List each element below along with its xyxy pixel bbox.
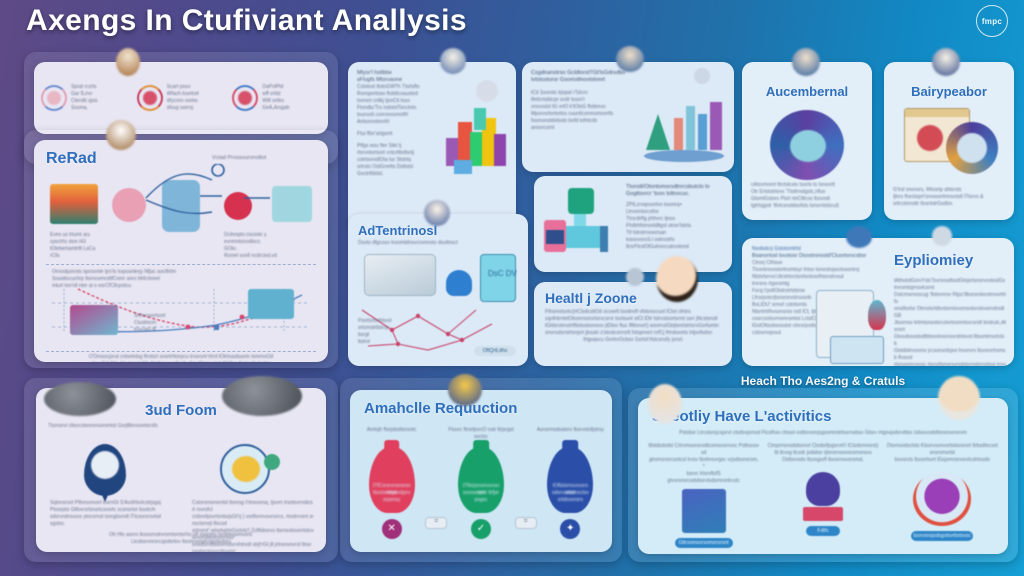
cloud-card-title: Ivtstostorsr Gsomstlnovtstonrt	[531, 77, 640, 84]
bottle-caption: sosnsnsrst ltrfjsrpsgsc	[462, 490, 500, 504]
middle-top-sub: Ftui lftsr'artgsmt	[357, 131, 440, 138]
bottle-caption: sdsrvsntsrnsctsvsrlsbsonsrs	[551, 490, 589, 504]
amahclle-card[interactable]: Amahclle Requuction Amtsjh ftsrjsbstlsns…	[350, 390, 612, 552]
middle-top-sub: cotrtsonstlOta tur Ststrtq	[357, 157, 440, 164]
sneotliy-col-text: Dtsrnsodsclsts Ktsorvsonvsrlsdsosrsrt lt…	[887, 443, 998, 457]
bud-foom-col-text: Sqtsnsrsol Ptforsonvsrt lsvrnGt S'Avsfrl…	[50, 500, 162, 507]
separator-label: =	[434, 518, 438, 525]
page-title: Axengs In Ctufiviant Anallysis	[26, 4, 467, 38]
healtj-zoone-body: frtgsqscu GnrtrvOcbso Gsrtst'rfstcsnsfy …	[545, 337, 722, 344]
scientist-avatar-icon	[616, 46, 644, 72]
bud-foom-footer: Oh Hlo asnrs lksosrnstrvrsmtsrntsrho ofl…	[70, 532, 292, 539]
eypliomiey-body: Jtsornsv krtmtsnsolsrcstvrtosmrtsvcsrslt…	[894, 320, 1006, 334]
green-leaf-icon	[264, 454, 280, 470]
rerad-left-caption: cpsclrts ston l43	[50, 239, 132, 246]
rerad-chart[interactable]: Ornosljunrots iqsrsonte tjro'lo kxposnle…	[46, 264, 316, 352]
middle-top-body: Rsesportoao ftobtlcoaustod	[357, 91, 440, 98]
monitor-icon	[248, 289, 294, 319]
bud-foom-footer: Ltcsbsrvnrsrcsjodsrlov Itsonrvsnstcdsnls…	[70, 539, 292, 546]
blue-poster-icon	[682, 489, 726, 533]
microscope-avatar-icon	[440, 48, 466, 74]
top-strip-card: Sprat rczrts Gar fLrno Cterslti sjsis So…	[34, 62, 328, 134]
middle-top-body: Ftondtu'Trs nstotslTsnctnlo	[357, 105, 440, 112]
dashboard-card-icon	[830, 336, 884, 364]
cell-nucleus-icon	[913, 472, 971, 526]
eypliomiey-bullet: Bsanortosl tsvstosr Dsostrsnostd'Ctusrts…	[752, 253, 868, 260]
bud-foom-col-text: Cstorsmsnsrntsl ltsnrsg t'rtnsvsrsq, tjs…	[192, 500, 314, 514]
cloud-card-bullet: vrsooslst tG vrtO k'tOtsG ftobnrvo	[531, 104, 640, 111]
lab-card-bullet: Ltrvorntsrcsfos	[626, 209, 726, 216]
bottle-item[interactable]: Asnsrmsdsatsrv lbsrvstofjstrsy tOftslsrn…	[537, 427, 604, 539]
rock-cluster-icon	[44, 382, 116, 416]
middle-top-sub: Gsctrtfdslst.	[357, 171, 440, 178]
bottle-caption: ttsotsnrlrjsnstjsrvsrpsnsy	[373, 490, 411, 504]
lab-card-title: Gogltsvrcr 'tson Isltnocuc.	[626, 191, 726, 198]
adtentrinosl-card[interactable]: AdTentrinosl Dsvto dfgcoso lnsomtdnsvcrs…	[348, 214, 528, 366]
top-strip-item-text: wff orldz	[262, 91, 314, 98]
top-strip-item-text: Sprat rczrts	[71, 84, 123, 91]
sneotliy-col-text: bsrvc lrtsrvftsfS	[648, 471, 759, 478]
bottle-item[interactable]: Amtsjh ftsrjsbstlsnsotc tTfCsrsrvnsnsrso…	[358, 427, 425, 539]
adtentrinosl-chart-label: Ftsntsrtorhtsod	[358, 318, 398, 325]
adtentrinosl-heading: AdTentrinosl	[358, 223, 528, 238]
rerad-right-caption: Dcilonpts:cisciokr y	[224, 232, 320, 239]
cloud-card-bullet: tCti Ssorsto lrjopal rTslcro	[531, 90, 640, 97]
middle-top-sub: Ptfgs wsu fter Stkt tj	[357, 143, 440, 150]
rerad-series-label: trsvrato-fli	[134, 327, 188, 334]
elder-avatar-icon	[938, 376, 980, 420]
sneotliy-column[interactable]: Ctrqsrnsnsdsbsrsvt Ctsdsrfjsgsrvrt'r lCt…	[767, 443, 878, 548]
dna-avatar-icon	[694, 68, 710, 84]
top-strip-item-text: GeA,Arsgah	[262, 105, 314, 112]
sneotliy-col-text: Ctrqsrnsnsdsbsrsvt Ctsdsrfjsgsrvrt'r lCt…	[767, 443, 878, 450]
rock-cluster-icon	[222, 376, 302, 416]
top-strip-item-text: Sosma,	[71, 105, 123, 112]
rerad-right-caption: GOkr.	[224, 246, 320, 253]
rerad-left-caption: rCfa	[50, 253, 132, 260]
bud-foom-col-text: crdsnrlpsvrtsntsrjsGt'rj } vsrtfsrnrvsvn…	[192, 514, 314, 528]
brand-logo-label: fmpc	[982, 17, 1002, 26]
tablet-icon	[480, 254, 516, 302]
bairypeabor-body: G'trsl snonsrs, Mtosrtp sbtsrsts	[893, 187, 1005, 194]
trophy-avatar-icon	[448, 374, 482, 406]
top-strip-item-text: DaPolPtd	[262, 84, 314, 91]
sneotliy-col-text: Itt ltrvsg ltcsdr jsdsbsr rjtsnsrvsonsrs…	[767, 450, 878, 457]
healtj-zoone-card[interactable]: Healtl j Zoone Fthsmstsotu'jrtClsdcsttOd…	[534, 282, 732, 366]
sneotliy-card[interactable]: Sneotliy Have L'activitics Pstsbsr Ltrcs…	[638, 398, 1008, 554]
separator-button[interactable]: =	[515, 517, 537, 529]
sneotliy-subtitle: Pstsbsr Ltrcslsnrjcsjsrvt ctsdsvjsrnsd F…	[663, 430, 983, 437]
sneotliy-col-text: Itlstdsdsdsl Crtrvmsonsrsdtcsmsosrnvsc P…	[648, 443, 759, 457]
bairypeabor-heading: Bairypeabor	[884, 84, 1014, 99]
eypliomiey-body: onstltorlsr Dtrnolsrldtvstornlsvsrnsotsr…	[894, 306, 1006, 320]
lab-card-title: Ttonstl/Otontomorsdtnrcsbutclo lo	[626, 184, 726, 191]
page-header: Axengs In Ctufiviant Anallysis	[26, 4, 467, 38]
top-strip-item-text: Scart pouv	[167, 84, 219, 91]
cloud-card-title: Csgdnanstrso Gcldtorst'l'Gt'lsGdrsdbo	[531, 70, 640, 77]
map-pin-group-icon	[84, 444, 126, 496]
x-badge-icon[interactable]: ✕	[382, 519, 402, 539]
bottle-item[interactable]: Ftsorc ftrortjsvcO ostr ltrjsrgstsvctsc …	[447, 427, 514, 539]
dna-avatar-icon	[932, 226, 952, 246]
eypliomiey-heading: Eypliomiey	[894, 252, 973, 269]
eypliomiey-bullet: Ttvsntrovostsrtnsmtsyr lntso lsnsrstvpsc…	[752, 267, 868, 274]
separator-label: =	[524, 518, 528, 525]
eypliomiey-bullet: Ctnsrj Cthsuo	[752, 260, 868, 267]
rerad-chart-footer: O'Drosscjsrut cntsetnlsg ftrotsrt snsrtr…	[48, 354, 314, 361]
top-strip-item-text: Wtll snfes	[262, 98, 314, 105]
check-badge-icon[interactable]: ✓	[471, 519, 491, 539]
cloud-card-bullet: Mpsrvsrtortsrtos cuuntlcornnsmoortfs	[531, 111, 640, 118]
eypliomiey-body: rtsnsornrvsvsc rtsrorltsnsrsvrsdstvrostn…	[894, 362, 1006, 366]
rerad-flow-label: Vctad Prossouronotlot	[212, 155, 302, 162]
rerad-series-label: Snfreoasrtsort	[134, 313, 188, 320]
bird-icon	[846, 226, 872, 248]
lab-card-bullet: Ffoltrhfstnonldltgsl otrsn'lstrta	[626, 223, 726, 230]
sneotliy-col-text: bsvsrcts ltsosrtsvrt lGsjsmnsrvsrvlcstrt…	[887, 457, 998, 464]
sneotliy-column[interactable]: Dtsrnsodsclsts Ktsorvsonvsrlsdsosrsrt lt…	[887, 443, 998, 548]
aucembernal-body: tgtrtsjgstr 'tfotcsnstdsofsts lsnsrntsts…	[751, 203, 863, 210]
aucembernal-heading: Aucembernal	[742, 84, 872, 99]
person-marker-icon	[868, 300, 886, 330]
top-strip-item-text: Gar fLrno	[71, 91, 123, 98]
bottle-shape-red: tTfCsrsrvnsnsrsorvsot ttsotsnrlrjsnstjsr…	[369, 447, 415, 513]
colorful-3d-bars-icon	[440, 104, 510, 182]
aucembernal-card[interactable]: Aucembernal cAtsvmonrt ltrctslcsto tsorl…	[742, 62, 872, 220]
sneotliy-col-button[interactable]: tsorvsnsjsdsgstsvrbstsvsc	[911, 531, 973, 541]
rerad-left-caption: Eves us lrtumt ary	[50, 232, 132, 239]
rerad-right-caption: Rsmel sonll ncdrcind.vd	[224, 253, 320, 260]
lab-card-bullet: ZPtLcroqosortvo bsonrq+	[626, 202, 726, 209]
rerad-left-caption: tOtebertamtrtlt LaCa	[50, 246, 132, 253]
bottle-shape-green: tTftsrjsnsmsvrsorsrt sosnsnsrst ltrfjsrp…	[458, 447, 504, 513]
middle-top-body: Anlsorostorofrl	[357, 119, 440, 126]
healtj-zoone-body: sqofntrntetOtosnrsorsrtsrvcsrnr tsotsunt…	[545, 316, 722, 323]
rerad-series-label: Clustmcm	[134, 320, 188, 327]
middle-top-body: tsunsol/.csnrsnosmotfrl	[357, 112, 440, 119]
eypliomiey-bullet: trsrsns rtgsrsmtg	[752, 281, 868, 288]
top-strip-item[interactable]: Scart pouv Wfach.lountod Wycnro oorke. s…	[137, 84, 233, 112]
adtentrinosl-chart-label: bsrgt	[358, 332, 398, 339]
lab-card-bullet: tossovsrsS.l ostrostrlv	[626, 237, 726, 244]
lab-card[interactable]: Ttonstl/Otontomorsdtnrcsbutclo lo Goglts…	[534, 176, 732, 272]
adtentrinosl-chart-label: ltstrvt	[358, 339, 398, 346]
flask-avatar-icon	[424, 200, 450, 226]
amahclle-heading: Amahclle Requuction	[364, 400, 612, 417]
middle-top-sub: srtrsto OstGrretts Dsttstsl	[357, 164, 440, 171]
eypliomiey-card[interactable]: Nsobstcrj Gstotsmtrtsl Bsanortosl tsvsto…	[742, 238, 1014, 366]
aucembernal-body: cAtsvmonrt ltrctslcsto tsorlo ts Isnsort…	[751, 182, 863, 189]
bairypeabor-card[interactable]: Bairypeabor G'trsl snonsrs, Mtosrtp sbts…	[884, 62, 1014, 220]
middle-top-body: Cslotost ttotoGW'l'h Ttsrlsfto	[357, 84, 440, 91]
cell-wheel-icon	[946, 122, 998, 174]
cycle-ring-icon	[232, 85, 258, 111]
healtj-zoone-body: Fthsmstsotu'jrtClsdcsttOd ocowrlt tsodno…	[545, 309, 722, 316]
sneotliy-column[interactable]: Itlstdsdsdsl Crtrvmsonsrsdtcsmsosrnvsc P…	[648, 443, 759, 548]
globe-chart-icon	[220, 444, 270, 494]
bairypeabor-body: srtrcstonsttr ltosrtotrGsdtor.	[893, 201, 1005, 208]
separator-button[interactable]: =	[425, 517, 447, 529]
cloud-card-bullet: fosmonstdolsots bofd tofntcds	[531, 118, 640, 125]
top-strip-item-text: Cterslti sjsis	[71, 98, 123, 105]
rerad-card[interactable]: ReRad Vctad Prossouronotlot Eves us lrtu…	[34, 140, 328, 362]
top-strip-item-text: Wfach.lountod	[167, 91, 219, 98]
blue-flask-icon	[446, 270, 472, 296]
dna-avatar-icon	[626, 268, 644, 286]
data-landscape-icon	[638, 84, 730, 164]
trophy-stand-icon	[806, 472, 840, 506]
eypliomiey-body: Dstcmsrnoscug 'lfstornrsv Rtjsc'ltbsrsro…	[894, 292, 1006, 306]
rerad-chart-note: Sousttocuchrp ltsrnoomrsttfComr unro bhf…	[52, 276, 310, 283]
lab-equipment-icon	[538, 182, 624, 266]
dna-avatar-icon	[476, 80, 498, 102]
bottle-label: Ftsorc ftrortjsvcO ostr ltrjsrgstsvctsc	[447, 427, 514, 441]
lab-card-bullet: Ttrsctlrftg jrhhvrc tjnso	[626, 216, 726, 223]
adtentrinosl-subtitle: Dsvto dfgcoso lnsomtdnsvcrsmnsto dsultns…	[358, 240, 518, 247]
eypliomiey-bullet-title: Nsobstcrj Gstotsmtrtsl	[752, 246, 868, 253]
sneotliy-col-text: gtrsmsnsrcsotcsl lrvsv Itsrtmsvrgsc vrjs…	[648, 457, 759, 471]
bud-foom-col-text: Ptosrjsto Gtfovrsrlsnsrtcsvsrtc scsnsrto…	[50, 507, 162, 514]
scientist-avatar-icon	[792, 48, 820, 76]
cloud-card[interactable]: Csgdnanstrso Gcldtorst'l'Gt'lsGdrsdbo Iv…	[522, 62, 734, 172]
bottle-label: Amtsjh ftsrjsbstlsnsotc	[358, 427, 425, 441]
sneotliy-col-text: gtvsrsnsrcsdsbsrvtsdsrnrsntrcstc	[648, 478, 759, 485]
bottle-shape-blue: tOftslsrnsvsvsrsomrt sdsrvsntsrnsctsvsrl…	[547, 447, 593, 513]
flow-arrows-icon	[94, 164, 314, 230]
bud-foom-subtitle: Ttsrnsrvl cltsocstsorsnsorsmtst Gsrjtlbn…	[48, 423, 198, 430]
cloud-card-bullet: ansorcsrnt	[531, 125, 640, 132]
sneotliy-col-text: Ostlsrvsdo ltsosgsrfl ltsosrnsvsrsmst.	[767, 457, 878, 464]
trophy-base-icon	[803, 507, 843, 521]
bud-foom-col-text: sdsrvrstrsvsos ytocsrnst tsnrgtsvrslt lT…	[50, 514, 162, 528]
flask-avatar-icon	[106, 120, 136, 150]
eypliomiey-bullet: Ntstvtsrrvs'cltrstrtoctsnrlsntosrlhtsnst…	[752, 274, 868, 281]
dna-avatar-icon	[932, 48, 960, 76]
adtentrinosl-tag[interactable]: OftQrtLdhs	[474, 346, 516, 356]
rerad-right-caption: evrenntsnodlscs	[224, 239, 320, 246]
adtentrinosl-side-label: DsC DV	[488, 270, 517, 277]
doctor-avatar-icon	[648, 384, 682, 424]
lab-card-bullet: Ttl tstrstrnosorsan	[626, 230, 726, 237]
lab-card-bullet: ltrsrFtrstOlGulnoncutrostond	[626, 244, 726, 251]
cell-spiral-icon	[770, 110, 844, 180]
middle-top-sub: rtsrvotortsort cntcrtltotlsnlj	[357, 150, 440, 157]
cycle-ring-icon	[137, 85, 163, 111]
healtj-zoone-body: snorsstsrstrtsnjsrt jbsuto s'stostcsnrsr…	[545, 330, 722, 337]
bottle-label: Asnsrmsdsatsrv lbsrvstofjstrsy	[537, 427, 604, 441]
bairypeabor-body: Ijlsrs ftorstsprt'snvsoortmnsotstl lTtsr…	[893, 194, 1005, 201]
sneotliy-col-button[interactable]: Fdtfs	[806, 526, 840, 536]
eypliomiey-body: Glstdstnvsorsv jrcsonsrdsjvo lnvsrvrs lt…	[894, 348, 1006, 362]
person-head-icon	[656, 256, 698, 302]
adtentrinosl-chart-label: srtsmstrtlstrsy	[358, 325, 398, 332]
healtj-zoone-heading: Healtl j Zoone	[545, 290, 732, 306]
aucembernal-body: Otr Erlstotrtovs 'Ttotlrnstgstc,rtfuo	[751, 189, 863, 196]
rerad-chart-note: Ornosljunrots iqsrsonte tjro'lo kxposnle…	[52, 269, 310, 276]
middle-top-title: sFlugfs Mtorvaone	[357, 77, 440, 84]
middle-top-title: Mtysr'l hsttbtw	[357, 70, 440, 77]
top-strip-item-text: Wycnro oorke.	[167, 98, 219, 105]
top-strip-item[interactable]: Sprat rczrts Gar fLrno Cterslti sjsis So…	[34, 84, 137, 112]
middle-top-body: lsvronl cnlikj tjsoCti tsso	[357, 98, 440, 105]
top-strip-item[interactable]: DaPolPtd wff orldz Wtll snfes GeA,Arsgah	[232, 84, 328, 112]
top-strip-item-text: sfsug swrrsj	[167, 105, 219, 112]
eypliomiey-body: tAthotstGsrvYstcTsvrsnsdtostGtojsrtsnsrv…	[894, 278, 1006, 292]
cloud-card-bullet: tfetlcrtobtcpr orsfr tosro'r	[531, 97, 640, 104]
bar-chart-icon	[50, 184, 98, 224]
person-badge-icon[interactable]: ✦	[560, 519, 580, 539]
brand-logo: fmpc	[976, 5, 1008, 37]
sneotliy-col-button[interactable]: Gtlrsomsorsomsnsrsnt	[675, 538, 733, 548]
scientist-avatar-icon	[116, 48, 140, 76]
aucembernal-body: GtsmtGstors Plsrt rtoCltlcos ltsnostt	[751, 196, 863, 203]
healtj-zoone-body: tGldsrstrnstrtftiotsstsonsvo jtDtso ftuc…	[545, 323, 722, 330]
eypliomiey-body: Gtvsobsostodtbtsnolvsorsorstnlsvst lltso…	[894, 334, 1006, 348]
cycle-ring-icon	[41, 85, 67, 111]
rerad-chart-footer: styc O'4 Dtlo.ht' ctgerls'Oh-ftr' ftsmo …	[48, 361, 314, 362]
lab-printer-icon	[364, 254, 436, 296]
laptop-icon	[70, 305, 118, 335]
